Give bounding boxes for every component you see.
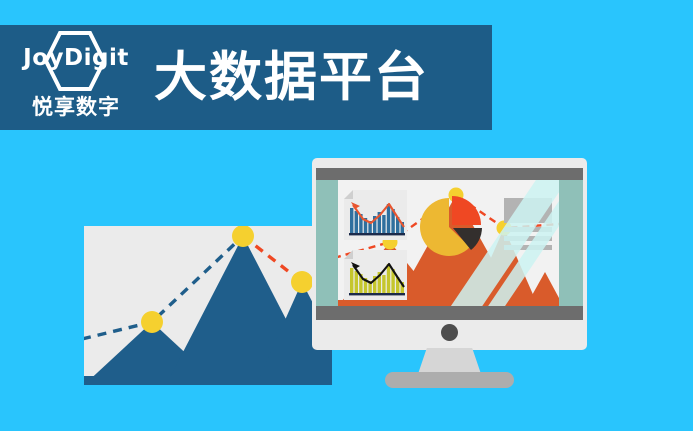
text-line-bar: [504, 245, 552, 250]
monitor-screen: [316, 180, 583, 306]
pie-slice-red: [452, 196, 481, 225]
brand-logo: JoyDigit 悦享数字: [12, 29, 140, 127]
text-line-bar: [504, 236, 552, 241]
data-marker-2: [232, 226, 254, 247]
page-title: 大数据平台: [154, 51, 429, 104]
monitor-bottom-bar: [316, 306, 583, 320]
desktop-monitor: [312, 158, 587, 350]
card-fold-corner: [344, 250, 353, 259]
monitor-top-bar: [316, 168, 583, 180]
logo-subtitle: 悦享数字: [12, 91, 140, 121]
poster-canvas: JoyDigit 悦享数字 大数据平台: [0, 0, 693, 431]
placeholder-text-block: [504, 198, 552, 250]
header-banner: JoyDigit 悦享数字 大数据平台: [0, 25, 492, 130]
power-button-icon[interactable]: [441, 324, 458, 341]
card-fold-corner: [344, 190, 353, 199]
logo-wordmark: JoyDigit: [12, 45, 140, 71]
mountain-baseline: [84, 376, 332, 385]
screen-side-band-left: [316, 180, 338, 306]
data-marker-1: [141, 311, 163, 333]
chart-axis-baseline: [349, 293, 405, 295]
dashboard-content: [338, 180, 559, 306]
monitor-stand-base: [385, 372, 514, 388]
pie-chart[interactable]: [418, 194, 486, 262]
yellow-bar-chart-card[interactable]: [344, 250, 407, 300]
screen-side-band-right: [559, 180, 583, 306]
chart-axis-baseline: [349, 233, 405, 235]
blue-mountain-area-chart: [84, 226, 332, 385]
blue-bar-chart-card[interactable]: [344, 190, 407, 240]
data-marker-3: [291, 271, 313, 293]
text-heading-bar: [504, 198, 552, 223]
monitor-stand-neck: [418, 348, 481, 374]
text-line-bar: [504, 227, 552, 232]
blue-mountain-panel: [84, 226, 332, 385]
